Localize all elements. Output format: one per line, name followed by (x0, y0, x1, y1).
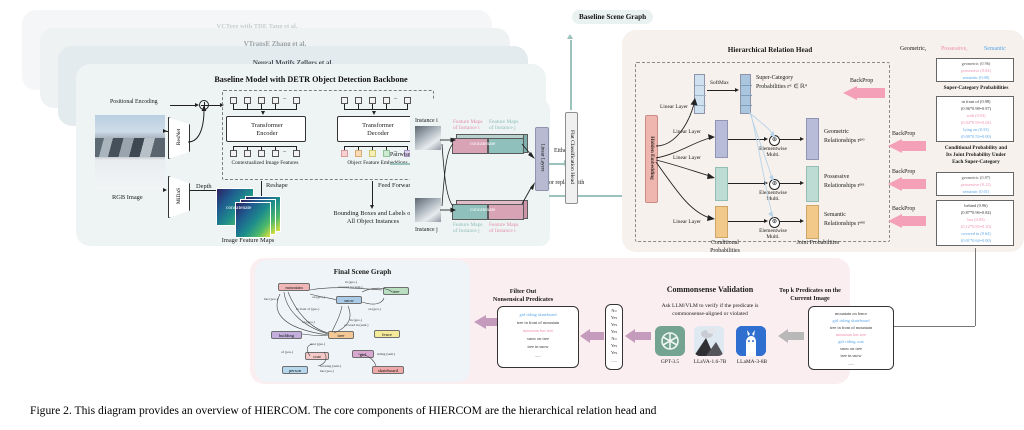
legend-possessive: Possessive, (941, 46, 968, 52)
hierarchical-relation-head-title: Hierarchical Relation Head (650, 46, 890, 54)
prob-row-semantic-bot: semantic (0.01) (937, 189, 1015, 194)
mult-to-pos-joint-arrow (800, 181, 804, 185)
encoder-output-token (293, 150, 300, 157)
conditional-joint-box-bottom: behind (0.96) (0.87*0.96=0.84) has (0.83… (936, 200, 1014, 246)
resnet-to-plus-curve (186, 100, 216, 145)
cond-bot-row-4: (0.12*0.83=0.10) (937, 224, 1015, 229)
cond-row-2: (0.96*0.98=0.97) (937, 106, 1015, 111)
contextualized-image-features-label: Contextualized Image Features (220, 160, 310, 166)
topk-title-line2: Current Image (755, 295, 865, 302)
object-embedding-token (355, 150, 362, 157)
backprop-label-1: BackProp (850, 78, 873, 84)
encoder-input-token (272, 97, 279, 104)
encoder-in-arrow (261, 111, 265, 115)
answer-2: Yes (606, 322, 622, 328)
object-embedding-token (341, 150, 348, 157)
filter-title-line1: Filter Out (470, 288, 576, 295)
semantic-joint-bar (806, 205, 819, 239)
encoder-output-token (230, 150, 237, 157)
linear-layers-label: Linear Layers (540, 129, 545, 187)
prob-row-possessive-bot: possessive (0.12) (937, 182, 1015, 187)
supercat-to-mult-arrows (745, 110, 787, 225)
filtered-predicate-3: snow on tree (498, 336, 578, 342)
super-category-line1: Super-Category (756, 75, 793, 81)
depth-label: Depth (196, 183, 212, 190)
commonsense-ask-line2: commonsense-aligned or violated (600, 311, 820, 317)
geometric-conditional-bar (715, 120, 728, 158)
rgb-to-midas-arrow (163, 188, 167, 192)
super-category-line2: Probabilities rˢᶜ ∈ ℝ⁴ (756, 84, 807, 90)
fch-up-arrow (567, 34, 573, 39)
possessive-conditional-bar (715, 167, 728, 201)
legend-geometric: Geometric, (900, 46, 926, 52)
model-label-llava: LLaVA-1.6-7B (688, 359, 732, 365)
answer-4: No (606, 336, 622, 342)
conditional-caption-line3: Each Super-Category (928, 159, 1024, 165)
decoder-input-token (369, 97, 376, 104)
encoder-out-ellipsis: – (283, 148, 286, 155)
backprop-arrow-2 (886, 139, 926, 153)
cond-bot-row-5: covered in (0.64) (937, 231, 1015, 236)
topk-predicates-box: mountain on fence girl riding skateboard… (808, 306, 894, 370)
backprop-arrow-3 (886, 177, 926, 191)
rgb-image-thumbnail (95, 115, 165, 190)
concatenate-label-cube-2: concatenate (470, 207, 495, 213)
topk-to-models-arrow (776, 329, 804, 343)
softmax-label: SoftMax (710, 80, 729, 86)
semantic-conditional-bar (715, 206, 728, 238)
object-embedding-token (369, 150, 376, 157)
models-to-answers-arrow (623, 329, 651, 343)
geometric-rel-line1: Geometric (824, 129, 849, 135)
baseline-model-title: Baseline Model with DETR Object Detectio… (76, 75, 546, 84)
image-feature-maps-label: Image Feature Maps (198, 237, 298, 244)
commonsense-ask-line1: Ask LLM/VLM to verify if the predicate i… (600, 303, 820, 309)
instance-i-label: Instance i (415, 118, 438, 124)
filtered-predicate-0: girl riding skateboard (498, 312, 578, 318)
reshape-label: Reshape (266, 182, 288, 189)
topk-predicate-5: snow on tree (809, 346, 893, 352)
backprop-label-3: BackProp (892, 169, 915, 175)
decoder-input-token (404, 97, 411, 104)
concatenate-label-feature-maps: concatenate (226, 205, 251, 211)
llama-logo-icon (736, 326, 766, 356)
pairwise-cross-curves (438, 128, 460, 224)
topk-predicate-4: girl riding coat (809, 339, 893, 345)
transformer-decoder-line1: Transformer (338, 122, 418, 129)
decoder-in-arrow (372, 111, 376, 115)
topk-predicate-0: mountain on fence (809, 311, 893, 317)
conditional-joint-box-top: in front of (0.98) (0.96*0.98=0.97) with… (936, 96, 1014, 142)
resnet-label: ResNet (176, 113, 182, 161)
conditional-caption-line1: Conditional Probability and (928, 145, 1024, 151)
semantic-rel-line1: Semantic (824, 212, 846, 218)
topk-predicate-6: tree in snow (809, 353, 893, 359)
feed-forward-label: Feed Forward (378, 182, 414, 189)
pairwise-label: Pairwise (390, 152, 410, 158)
llava-logo-icon (694, 326, 724, 356)
cubes-to-linear-arrows (520, 138, 538, 210)
concatenate-label-cube-1: concatenate (470, 141, 495, 147)
object-embedding-token (383, 150, 390, 157)
answer-5: Yes (606, 343, 622, 349)
filtered-predicates-box: girl riding skateboard tree in front of … (497, 306, 579, 368)
model-label-llama: LLaMA-3-8B (730, 359, 774, 365)
prob-row-possessive-top: possessive (0.04) (937, 68, 1015, 73)
topk-title-line1: Top k Predicates on the (755, 287, 865, 294)
gpt-logo-icon (655, 326, 685, 356)
topk-predicate-1: girl riding skateboard (809, 318, 893, 324)
filtered-predicate-5: ...... (498, 353, 578, 359)
cond-row-1: in front of (0.98) (937, 99, 1015, 104)
answers-to-filter-arrow (578, 329, 604, 343)
super-category-probabilities-box-bottom: geometric (0.87) possessive (0.12) seman… (936, 172, 1014, 196)
cond-row-6: (0.00*0.53=0.00) (937, 134, 1015, 139)
flat-classification-head-bar: Flat Classification Head (565, 112, 578, 204)
geometric-rel-line2: Relationships rᵍᵉᵒ (824, 138, 864, 144)
answer-6: Yes (606, 350, 622, 356)
flat-classification-head-label: Flat Classification Head (569, 112, 575, 202)
cond-bot-row-1: behind (0.96) (937, 203, 1015, 208)
backprop-arrow-4 (886, 214, 926, 228)
super-category-probabilities-box-top: geometric (0.96) possessive (0.04) seman… (936, 58, 1014, 82)
decoder-input-token (355, 97, 362, 104)
possessive-rel-line2: Relationships rᵖᵒˢ (824, 183, 864, 189)
mult-to-sem-joint-arrow (800, 219, 804, 223)
backprop-label-4: BackProp (892, 206, 915, 212)
instance-j-label: Instance j (415, 227, 438, 233)
encoder-input-token (230, 97, 237, 104)
encoder-input-token (293, 97, 300, 104)
transformer-encoder-line2: Encoder (227, 130, 307, 137)
possessive-joint-bar (806, 166, 819, 202)
decoder-ellipsis: – (394, 95, 397, 102)
decoder-input-token (383, 97, 390, 104)
figure-caption: Figure 2. This diagram provides an overv… (30, 404, 1005, 417)
transformer-decoder-box: Transformer Decoder (337, 116, 417, 142)
softmax-arrow (735, 88, 739, 92)
final-scene-graph-title: Final Scene Graph (255, 268, 470, 276)
filtered-predicate-4: tree in snow (498, 344, 578, 350)
encoder-output-token (244, 150, 251, 157)
possessive-rel-line1: Possessive (824, 174, 849, 180)
filter-title-line2: Nonsensical Predicates (470, 296, 576, 303)
prob-row-semantic-top: semantic (0.00) (937, 75, 1015, 80)
decoder-input-token (341, 97, 348, 104)
model-label-gpt: GPT-3.5 (650, 359, 690, 365)
feedforward-arrow (370, 205, 374, 209)
filtered-predicate-1: tree in front of mountain (498, 320, 578, 326)
baseline-scene-graph-badge: Baseline Scene Graph (572, 10, 653, 24)
cond-bot-row-6: (0.01*0.64=0.00) (937, 238, 1015, 243)
topk-predicate-3: mountain has tree (809, 332, 893, 338)
encoder-output-token (272, 150, 279, 157)
prob-row-geometric-top: geometric (0.96) (937, 61, 1015, 66)
midas-label: MiDaS (176, 172, 182, 220)
supercat-prob-bar (740, 74, 751, 114)
fch-up-line (570, 40, 572, 110)
mult-to-geo-joint-arrow (800, 137, 804, 141)
cond-row-4: (0.04*0.93=0.04) (937, 120, 1015, 125)
super-category-probabilities-caption: Super-Category Probabilities (930, 85, 1022, 91)
prob-row-geometric-bot: geometric (0.87) (937, 175, 1015, 180)
rgb-to-resnet-arrow (163, 129, 167, 133)
semantic-rel-line2: Relationships rˢᵉᵐ (824, 221, 865, 227)
joint-probabilities-label: Joint Probabilities (778, 240, 858, 246)
filtered-predicate-2: mountain has tree (498, 328, 578, 334)
encoder-ellipsis: – (283, 95, 286, 102)
answer-3: Yes (606, 329, 622, 335)
either-arrow-line (549, 163, 565, 165)
cond-bot-row-2: (0.87*0.96=0.84) (937, 210, 1015, 215)
hidden-to-branches-curves (654, 118, 716, 242)
encoder-input-token (244, 97, 251, 104)
scene-graph-edges (262, 280, 412, 380)
legend-semantic: Semantic (984, 46, 1006, 52)
encoder-output-token (258, 150, 265, 157)
positional-encoding-label: Positional Encoding (110, 99, 158, 105)
rgb-image-label: RGB Image (112, 194, 143, 201)
backprop-arrow-1 (841, 86, 885, 100)
topk-predicate-2: tree in front of mountain (809, 325, 893, 331)
geometric-joint-bar (806, 118, 819, 160)
transformer-encoder-line1: Transformer (227, 122, 307, 129)
encoder-input-token (258, 97, 265, 104)
conditional-probabilities-line2: Probabilities (690, 248, 760, 254)
cond-bot-row-3: has (0.83) (937, 217, 1015, 222)
transformer-encoder-box: Transformer Encoder (226, 116, 306, 142)
transformer-decoder-line2: Decoder (338, 130, 418, 137)
backprop-label-2: BackProp (892, 131, 915, 137)
feature-maps-i-line2-bot: of Instance i (489, 228, 516, 234)
feature-maps-j-line2-bot: of Instance j (453, 228, 480, 234)
answer-7: ...... (606, 358, 622, 364)
cond-row-5: lying on (0.53) (937, 127, 1015, 132)
cond-row-3: with (0.93) (937, 113, 1015, 118)
topk-predicate-7: ...... (809, 361, 893, 367)
conditional-probabilities-line1: Conditional (690, 240, 760, 246)
feature-maps-j-line2-top: of Instance j (489, 125, 516, 131)
conditional-caption-line2: Its Joint Probability Under (928, 152, 1024, 158)
